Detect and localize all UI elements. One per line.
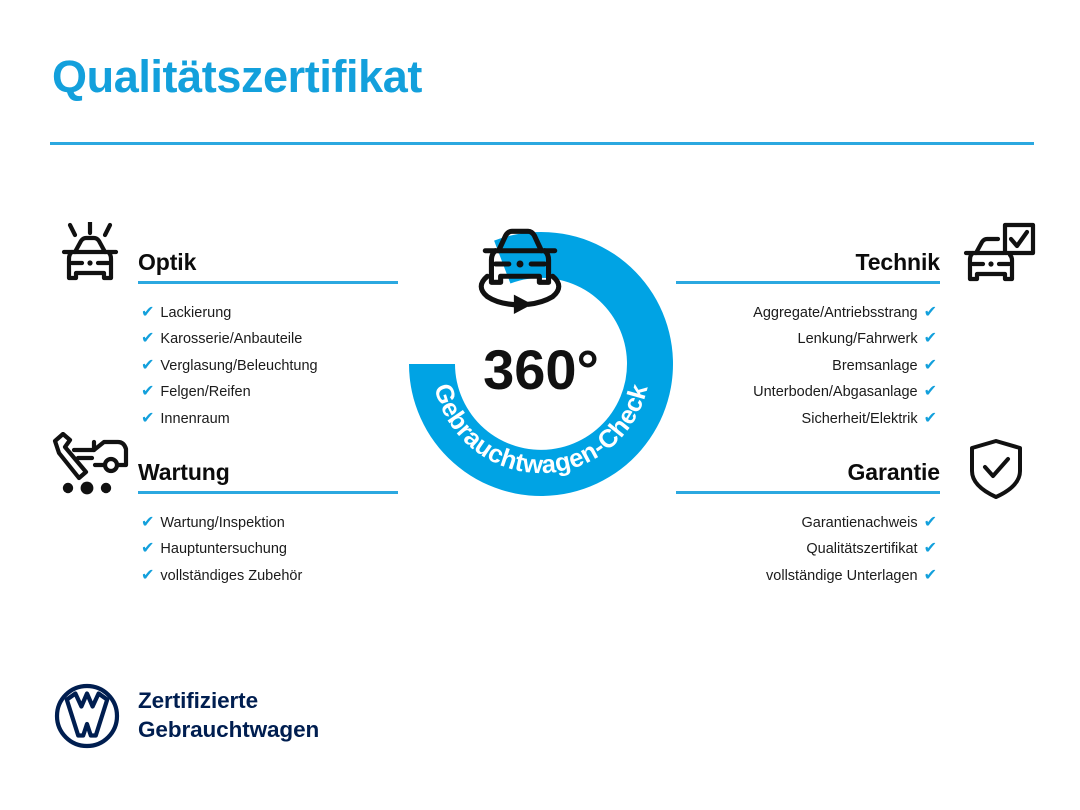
checklist-item-label: Bremsanlage — [832, 358, 917, 374]
check-icon: ✔ — [924, 406, 937, 431]
checklist-item: Qualitätszertifikat✔ — [674, 536, 937, 562]
car-shine-icon — [50, 222, 130, 286]
certificate-page: Qualitätszertifikat — [0, 0, 1080, 810]
checklist-item-label: vollständige Unterlagen — [766, 568, 918, 584]
section-optik: Optik ✔Lackierung✔Karosserie/Anbauteile✔… — [138, 238, 400, 432]
vw-wordmark: Zertifizierte Gebrauchtwagen — [138, 686, 319, 744]
check-icon: ✔ — [141, 300, 154, 325]
vw-logo — [54, 683, 120, 749]
checklist-item-label: vollständiges Zubehör — [160, 568, 302, 584]
checklist-item: ✔Hauptuntersuchung — [141, 536, 400, 562]
check-icon: ✔ — [924, 300, 937, 325]
header-divider — [50, 142, 1034, 145]
checklist-item-label: Hauptuntersuchung — [160, 541, 287, 557]
section-technik: Technik Aggregate/Antriebsstrang✔Lenkung… — [674, 238, 940, 432]
section-technik-title: Technik — [855, 249, 940, 276]
check-icon: ✔ — [141, 326, 154, 351]
section-wartung-title: Wartung — [138, 459, 230, 486]
checklist-item: ✔Innenraum — [141, 406, 400, 432]
checklist-item: ✔Wartung/Inspektion — [141, 510, 400, 536]
section-technik-header: Technik — [674, 238, 940, 284]
checklist-item-label: Unterboden/Abgasanlage — [753, 384, 917, 400]
car-checkbox-icon — [962, 222, 1036, 286]
section-garantie-divider — [676, 491, 940, 494]
badge-360-check: Gebrauchtwagen-Check 360° — [396, 214, 686, 504]
vw-wordmark-line1: Zertifizierte — [138, 686, 319, 715]
badge-center-label: 360° — [483, 338, 599, 401]
checklist-item-label: Karosserie/Anbauteile — [160, 331, 302, 347]
checklist-item-label: Qualitätszertifikat — [806, 541, 917, 557]
check-icon: ✔ — [924, 563, 937, 588]
checklist-item: ✔Lackierung — [141, 300, 400, 326]
section-garantie-list: Garantienachweis✔Qualitätszertifikat✔vol… — [674, 510, 940, 589]
checklist-item: Sicherheit/Elektrik✔ — [674, 406, 937, 432]
check-icon: ✔ — [141, 353, 154, 378]
check-icon: ✔ — [141, 510, 154, 535]
checklist-item: Bremsanlage✔ — [674, 353, 937, 379]
checklist-item-label: Lenkung/Fahrwerk — [798, 331, 918, 347]
section-optik-list: ✔Lackierung✔Karosserie/Anbauteile✔Vergla… — [138, 300, 400, 432]
section-optik-title: Optik — [138, 249, 196, 276]
footer-logo: Zertifizierte Gebrauchtwagen — [54, 683, 384, 761]
checklist-item: ✔vollständiges Zubehör — [141, 563, 400, 589]
check-icon: ✔ — [141, 379, 154, 404]
checklist-item: ✔Verglasung/Beleuchtung — [141, 353, 400, 379]
checklist-item-label: Felgen/Reifen — [160, 384, 250, 400]
section-garantie-header: Garantie — [674, 448, 940, 494]
section-optik-divider — [138, 281, 398, 284]
check-icon: ✔ — [924, 536, 937, 561]
checklist-item: Lenkung/Fahrwerk✔ — [674, 326, 937, 352]
checklist-item-label: Innenraum — [160, 411, 229, 427]
section-wartung-list: ✔Wartung/Inspektion✔Hauptuntersuchung✔vo… — [138, 510, 400, 589]
check-icon: ✔ — [141, 536, 154, 561]
vw-wordmark-line2: Gebrauchtwagen — [138, 715, 319, 744]
checklist-item-label: Sicherheit/Elektrik — [802, 411, 918, 427]
check-icon: ✔ — [924, 353, 937, 378]
shield-check-icon — [968, 438, 1024, 500]
section-garantie-title: Garantie — [847, 459, 940, 486]
section-wartung-divider — [138, 491, 398, 494]
check-icon: ✔ — [924, 379, 937, 404]
section-wartung: Wartung ✔Wartung/Inspektion✔Hauptuntersu… — [138, 448, 400, 589]
checklist-item-label: Wartung/Inspektion — [160, 515, 284, 531]
check-icon: ✔ — [141, 406, 154, 431]
checklist-item-label: Garantienachweis — [802, 515, 918, 531]
checklist-item: ✔Felgen/Reifen — [141, 379, 400, 405]
section-wartung-header: Wartung — [138, 448, 400, 494]
section-optik-header: Optik — [138, 238, 400, 284]
section-technik-divider — [676, 281, 940, 284]
check-icon: ✔ — [924, 510, 937, 535]
checklist-item: Garantienachweis✔ — [674, 510, 937, 536]
car-wrench-icon — [48, 432, 132, 496]
check-icon: ✔ — [924, 326, 937, 351]
checklist-item-label: Lackierung — [160, 305, 231, 321]
section-garantie: Garantie Garantienachweis✔Qualitätszerti… — [674, 448, 940, 589]
check-icon: ✔ — [141, 563, 154, 588]
checklist-item-label: Aggregate/Antriebsstrang — [753, 305, 917, 321]
checklist-item: ✔Karosserie/Anbauteile — [141, 326, 400, 352]
section-technik-list: Aggregate/Antriebsstrang✔Lenkung/Fahrwer… — [674, 300, 940, 432]
page-title: Qualitätszertifikat — [52, 52, 422, 102]
checklist-item: vollständige Unterlagen✔ — [674, 563, 937, 589]
checklist-item: Unterboden/Abgasanlage✔ — [674, 379, 937, 405]
checklist-item-label: Verglasung/Beleuchtung — [160, 358, 317, 374]
checklist-item: Aggregate/Antriebsstrang✔ — [674, 300, 937, 326]
